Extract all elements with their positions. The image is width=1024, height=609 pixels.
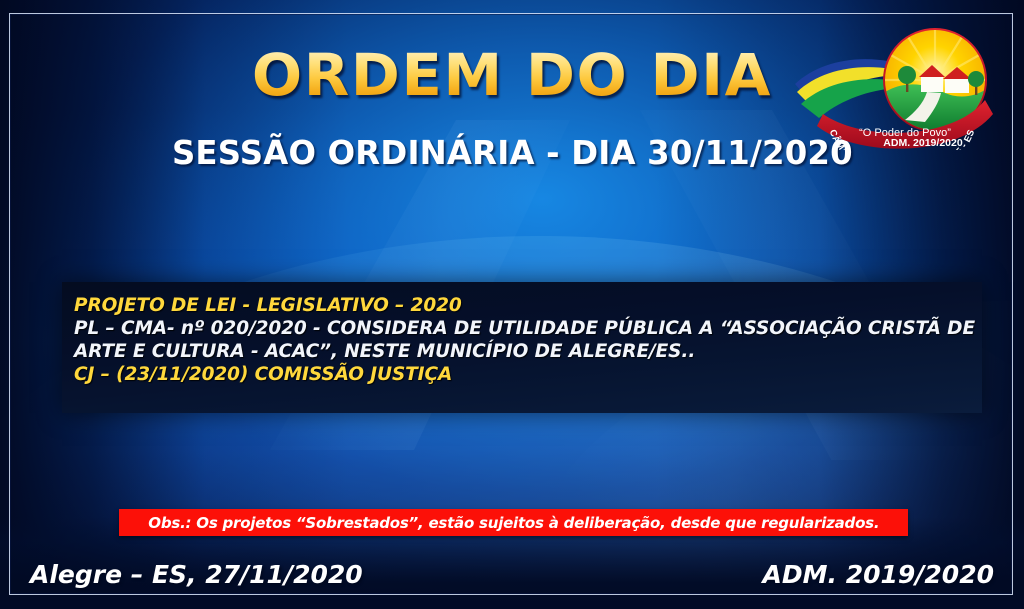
observation-text: Obs.: Os projetos “Sobrestados”, estão s… — [148, 514, 879, 532]
emblem-admin: ADM. 2019/2020 — [883, 137, 963, 149]
agenda-panel: PROJETO DE LEI - LEGISLATIVO – 2020 PL –… — [62, 282, 982, 413]
footer: Alegre – ES, 27/11/2020 ADM. 2019/2020 — [0, 552, 1024, 596]
observation-bar: Obs.: Os projetos “Sobrestados”, estão s… — [119, 509, 908, 536]
footer-location-date: Alegre – ES, 27/11/2020 — [30, 560, 363, 589]
agenda-line: CJ – (23/11/2020) COMISSÃO JUSTIÇA — [74, 363, 982, 386]
page-title-text: ORDEM DO DIA — [252, 46, 772, 104]
agenda-line: ARTE E CULTURA - ACAC”, NESTE MUNICÍPIO … — [74, 340, 982, 363]
agenda-line: PL – CMA- nº 020/2020 - CONSIDERA DE UTI… — [74, 317, 982, 340]
camara-logo: CÂMARA MUNICIPAL DE ALEGRE - ES “O Poder… — [793, 22, 1001, 150]
page-subtitle-text: SESSÃO ORDINÁRIA - DIA 30/11/2020 — [172, 136, 853, 169]
ordem-do-dia-slide: ORDEM DO DIA SESSÃO ORDINÁRIA - DIA 30/1… — [0, 0, 1024, 609]
footer-administration: ADM. 2019/2020 — [763, 560, 994, 589]
agenda-line: PROJETO DE LEI - LEGISLATIVO – 2020 — [74, 294, 982, 317]
